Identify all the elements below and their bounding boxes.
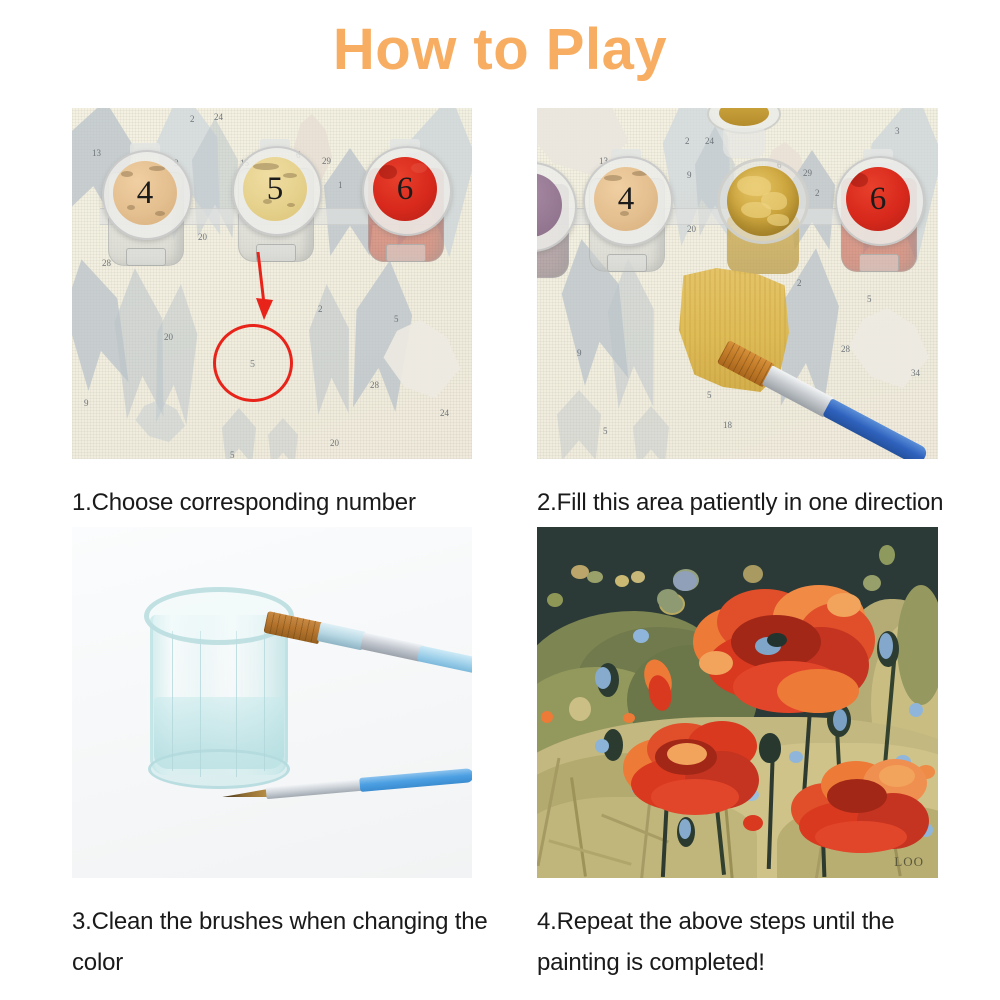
pot-clip — [386, 244, 426, 262]
page-title: How to Play — [0, 18, 1000, 82]
canvas-number: 9 — [84, 398, 89, 408]
pot-number-label: 6 — [835, 156, 921, 242]
canvas-number: 13 — [92, 148, 101, 158]
canvas-number: 24 — [214, 112, 223, 122]
step-2-caption: 2.Fill this area patiently in one direct… — [537, 482, 957, 523]
canvas-number: 28 — [841, 344, 850, 354]
step-4: LOO 4.Repeat the above steps until the p… — [537, 527, 957, 984]
paint-pot-partial[interactable] — [537, 162, 573, 280]
paint-pot-5[interactable]: 5 — [232, 146, 318, 264]
paint-pot-6[interactable]: 6 — [362, 146, 448, 264]
pot-number-label: 4 — [583, 156, 669, 242]
step-1-caption: 1.Choose corresponding number — [72, 482, 492, 523]
step-4-caption: 4.Repeat the above steps until the paint… — [537, 901, 957, 984]
canvas-number: 3 — [895, 126, 900, 136]
canvas-number: 5 — [394, 314, 399, 324]
cup-base — [148, 749, 290, 789]
filling-area-with-brush-photo: 13 9 2 24 6 29 2 3 20 2 5 9 28 34 5 18 5… — [537, 108, 938, 459]
poppy-flower-lower-left — [615, 717, 765, 815]
pot-paint-gold — [727, 166, 799, 236]
red-circle-highlight — [213, 324, 293, 402]
paint-pot-6[interactable]: 6 — [835, 156, 921, 274]
canvas-number: 9 — [577, 348, 582, 358]
canvas-number: 9 — [687, 170, 692, 180]
pot-clip — [859, 254, 899, 272]
pot-paint — [537, 173, 562, 237]
canvas-number: 2 — [815, 188, 820, 198]
canvas-number: 5 — [707, 390, 712, 400]
paint-pot-4[interactable]: 4 — [583, 156, 669, 274]
canvas-number: 29 — [322, 156, 331, 166]
pot-number-label: 6 — [362, 146, 448, 232]
step-3: 3.Clean the brushes when changing the co… — [72, 527, 492, 984]
canvas-number: 5 — [230, 450, 235, 459]
paint-pot-4[interactable]: 4 — [102, 150, 188, 268]
canvas-number: 28 — [370, 380, 379, 390]
step-2: 13 9 2 24 6 29 2 3 20 2 5 9 28 34 5 18 5… — [537, 108, 957, 523]
canvas-number: 5 — [603, 426, 608, 436]
poppy-artwork: LOO — [537, 527, 938, 878]
cleaning-brushes-in-water-photo — [72, 527, 472, 878]
paint-pot-lid-open[interactable] — [707, 108, 781, 160]
step-3-caption: 3.Clean the brushes when changing the co… — [72, 901, 492, 984]
pot-clip — [607, 254, 647, 272]
poppy-flower-main — [677, 585, 877, 713]
canvas-number: 20 — [330, 438, 339, 448]
red-arrow-icon — [246, 250, 282, 322]
canvas-number: 18 — [723, 420, 732, 430]
pot-clip — [126, 248, 166, 266]
pot-lid — [537, 162, 577, 252]
canvas-number: 2 — [190, 114, 195, 124]
pot-number-label: 4 — [102, 150, 188, 236]
pot-neck — [723, 128, 765, 158]
paint-pot-open-yellow[interactable] — [717, 158, 809, 278]
canvas-number: 20 — [164, 332, 173, 342]
canvas-number: 2 — [797, 278, 802, 288]
artwork-signature: LOO — [894, 854, 924, 870]
canvas-number: 24 — [440, 408, 449, 418]
canvas-number: 20 — [198, 232, 207, 242]
completed-poppy-painting-photo: LOO — [537, 527, 938, 878]
paint-pots-choose-number-photo: 13 9 2 24 15 6 29 1 20 28 2 5 20 9 28 24… — [72, 108, 472, 459]
canvas-number: 20 — [687, 224, 696, 234]
step-1: 13 9 2 24 15 6 29 1 20 28 2 5 20 9 28 24… — [72, 108, 492, 523]
pot-number-label: 5 — [232, 146, 318, 232]
canvas-number: 34 — [911, 368, 920, 378]
canvas-number: 5 — [867, 294, 872, 304]
poppy-flower-lower-right — [781, 757, 931, 853]
canvas-number: 2 — [318, 304, 323, 314]
canvas-number: 1 — [338, 180, 343, 190]
canvas-number: 2 — [685, 136, 690, 146]
